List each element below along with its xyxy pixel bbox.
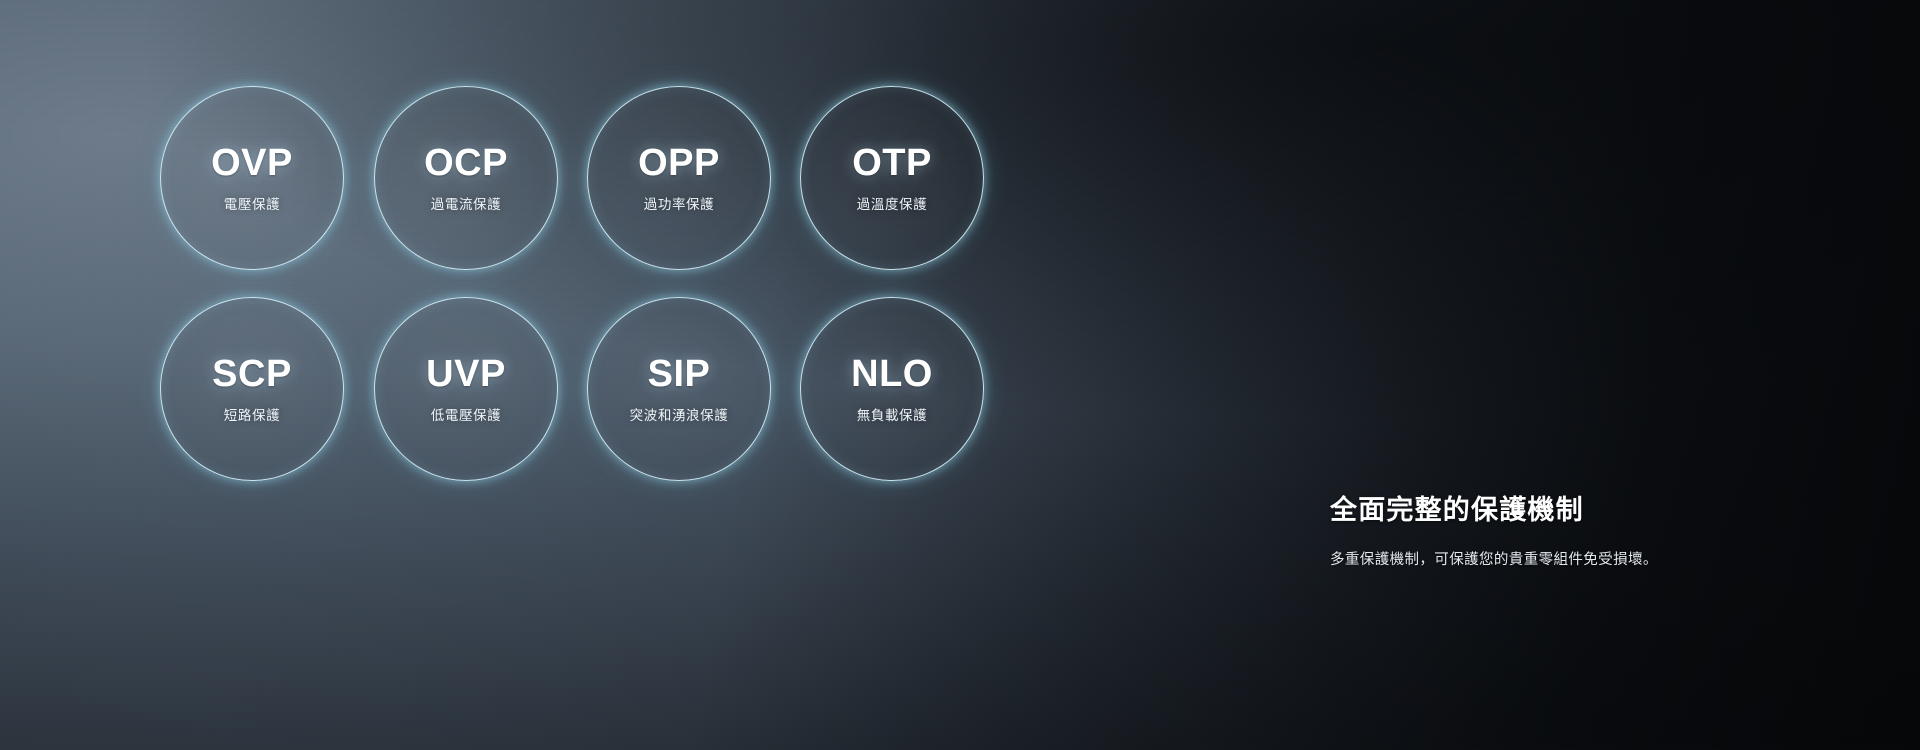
badge-code: NLO — [851, 355, 933, 393]
protection-badge-sip[interactable]: SIP突波和湧浪保護 — [587, 297, 771, 481]
badge-code: OTP — [852, 144, 932, 182]
badge-description: 突波和湧浪保護 — [630, 409, 729, 423]
badge-description: 無負載保護 — [857, 409, 928, 423]
protection-badge-grid: OVP電壓保護OCP過電流保護OPP過功率保護OTP過溫度保護SCP短路保護UV… — [160, 86, 990, 482]
badge-code: OCP — [424, 144, 508, 182]
protection-badge-uvp[interactable]: UVP低電壓保護 — [374, 297, 558, 481]
protection-badge-scp[interactable]: SCP短路保護 — [160, 297, 344, 481]
copy-title: 全面完整的保護機制 — [1330, 494, 1850, 526]
copy-subtitle: 多重保護機制，可保護您的貴重零組件免受損壞。 — [1330, 550, 1850, 572]
badge-code: SCP — [212, 355, 292, 393]
badge-code: SIP — [648, 355, 711, 393]
badge-description: 低電壓保護 — [431, 409, 502, 423]
protection-features-banner: OVP電壓保護OCP過電流保護OPP過功率保護OTP過溫度保護SCP短路保護UV… — [0, 0, 1920, 750]
badge-code: OPP — [638, 144, 720, 182]
protection-badge-nlo[interactable]: NLO無負載保護 — [800, 297, 984, 481]
badge-description: 電壓保護 — [224, 198, 280, 212]
protection-badge-opp[interactable]: OPP過功率保護 — [587, 86, 771, 270]
copy-block: 全面完整的保護機制 多重保護機制，可保護您的貴重零組件免受損壞。 — [1330, 494, 1850, 572]
badge-code: UVP — [426, 355, 506, 393]
protection-badge-ovp[interactable]: OVP電壓保護 — [160, 86, 344, 270]
badge-code: OVP — [211, 144, 293, 182]
badge-description: 過電流保護 — [431, 198, 502, 212]
protection-badge-ocp[interactable]: OCP過電流保護 — [374, 86, 558, 270]
badge-description: 過功率保護 — [644, 198, 715, 212]
protection-badge-otp[interactable]: OTP過溫度保護 — [800, 86, 984, 270]
badge-description: 過溫度保護 — [857, 198, 928, 212]
badge-description: 短路保護 — [224, 409, 280, 423]
